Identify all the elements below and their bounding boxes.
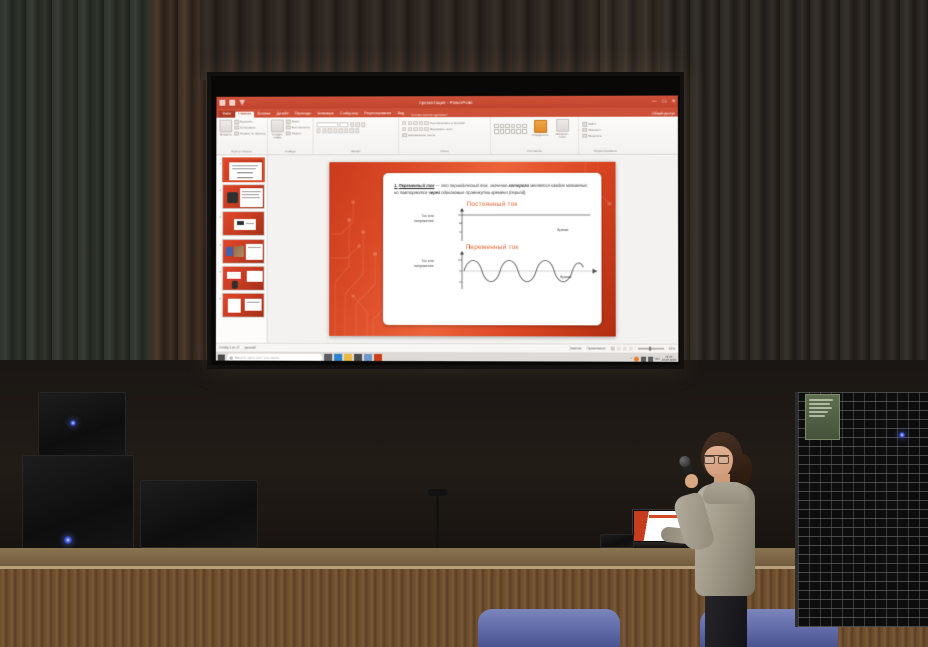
find-button[interactable]: Найти bbox=[582, 122, 628, 127]
slide-paragraph-number: 1. bbox=[394, 183, 397, 188]
volume-icon[interactable] bbox=[648, 356, 653, 361]
section-label: Раздел bbox=[292, 131, 301, 135]
thumbnail-number: 4 bbox=[217, 239, 221, 247]
shape-more-icon[interactable] bbox=[522, 129, 527, 134]
wall-notice-sign bbox=[805, 394, 840, 440]
thumbnail-preview[interactable] bbox=[222, 266, 265, 291]
slide-body-3-bold: через bbox=[429, 190, 441, 195]
ribbon-group-editing: Найти Заменить Выделить Редактирование bbox=[579, 117, 631, 154]
thumbnail-number: 6 bbox=[217, 293, 221, 301]
clipboard-group-label: Буфер обмена bbox=[219, 149, 264, 154]
powerpoint-body: 1 2 bbox=[216, 155, 678, 344]
shape-rectangle-icon[interactable] bbox=[494, 124, 499, 129]
format-painter-label: Формат по образцу bbox=[240, 132, 266, 136]
presenter-hand bbox=[685, 474, 698, 488]
section-button[interactable]: Раздел bbox=[286, 131, 310, 136]
paste-button[interactable]: Вставить bbox=[219, 120, 232, 137]
speaker-led-top bbox=[70, 420, 76, 426]
speaker-led-bottom bbox=[64, 536, 72, 544]
reset-button[interactable]: Восстановить bbox=[286, 125, 310, 130]
italic-button[interactable] bbox=[322, 129, 326, 133]
slide-body-3: одинаковые промежутки времени (период) bbox=[440, 190, 525, 195]
layout-icon bbox=[286, 119, 290, 123]
copy-button[interactable]: Копировать bbox=[234, 125, 266, 130]
format-painter-icon bbox=[234, 131, 238, 135]
thumbnail-preview[interactable] bbox=[222, 184, 265, 209]
thumbnail-item-5[interactable]: 5 bbox=[217, 266, 266, 291]
underline-button[interactable] bbox=[328, 129, 332, 133]
paragraph-group-label: Абзац bbox=[402, 149, 487, 154]
chart-ac-x-label: Время bbox=[560, 275, 571, 279]
arrange-icon bbox=[534, 120, 547, 133]
language-indicator[interactable]: русский bbox=[244, 346, 255, 350]
paste-label: Вставить bbox=[220, 134, 232, 137]
shape-banner-icon[interactable] bbox=[516, 129, 521, 134]
slide-body-2-bold: которого bbox=[509, 183, 529, 188]
numbering-button[interactable] bbox=[408, 121, 412, 125]
text-direction-icon bbox=[402, 133, 406, 137]
text-direction-label[interactable]: Направление текста bbox=[408, 133, 435, 137]
shadow-button[interactable] bbox=[333, 129, 337, 133]
shape-line-icon[interactable] bbox=[500, 124, 505, 129]
ribbon-group-paragraph: Преобразовать в SmartArt Выровнять текст bbox=[399, 117, 491, 154]
select-icon bbox=[582, 134, 587, 139]
thumbnail-number: 5 bbox=[217, 266, 221, 274]
edge-icon[interactable] bbox=[334, 354, 342, 362]
microphone-stand-clip bbox=[428, 489, 447, 496]
normal-view-button[interactable] bbox=[610, 347, 614, 351]
zoom-slider[interactable] bbox=[638, 348, 664, 349]
shape-circle-icon[interactable] bbox=[516, 124, 521, 129]
slideshow-view-button[interactable] bbox=[628, 347, 632, 351]
slide-definition-text: 1. Переменный ток — это периодический то… bbox=[394, 183, 590, 196]
presenter-hood bbox=[703, 482, 749, 504]
increase-indent-button[interactable] bbox=[419, 121, 423, 125]
cut-button[interactable]: Вырезать bbox=[234, 120, 266, 125]
chart-ac-y-label-line2: напряжение bbox=[414, 264, 434, 268]
ribbon-group-slides: Создать слайд Макет Восстановить bbox=[268, 117, 314, 154]
slide-body-1: — это периодический ток, значение bbox=[436, 183, 508, 188]
windows-taskbar[interactable]: Введите здесь текст для поиска ^ RU 14:3… bbox=[216, 352, 679, 362]
cut-icon bbox=[234, 120, 238, 124]
quick-styles-icon bbox=[556, 119, 569, 132]
slide-content-card: 1. Переменный ток — это периодический то… bbox=[383, 173, 602, 326]
arrange-button[interactable]: Упорядочить bbox=[530, 120, 550, 137]
thumbnail-number: 2 bbox=[217, 184, 221, 192]
reading-view-button[interactable] bbox=[622, 347, 626, 351]
chart-dc-x-label: Время bbox=[557, 228, 568, 232]
audience-seat-left bbox=[478, 609, 620, 647]
thumbnail-item-2[interactable]: 2 bbox=[217, 184, 266, 209]
antivirus-icon[interactable] bbox=[634, 356, 639, 361]
chart-dc: Ток или напряжение Врем bbox=[394, 208, 590, 242]
stage-floor-edge bbox=[0, 548, 928, 568]
quick-styles-label: Экспресс-стили bbox=[552, 133, 572, 139]
slide-counter: Слайд 1 из 12 bbox=[219, 346, 240, 350]
thumbnail-preview[interactable] bbox=[222, 157, 265, 182]
current-slide[interactable]: 1. Переменный ток — это периодический то… bbox=[329, 162, 616, 337]
chart-ac-y-label: Ток или напряжение bbox=[414, 259, 434, 268]
shape-star-icon[interactable] bbox=[511, 129, 516, 134]
copy-label: Копировать bbox=[240, 126, 255, 130]
ribbon-group-drawing: Упорядочить Экспресс-стили Рисование bbox=[491, 117, 579, 154]
shape-curve-icon[interactable] bbox=[494, 129, 499, 134]
line-spacing-button[interactable] bbox=[424, 121, 428, 125]
reset-icon bbox=[286, 125, 290, 129]
share-button[interactable]: Общий доступ bbox=[652, 112, 675, 116]
clear-formatting-button[interactable] bbox=[361, 123, 365, 127]
grille-indicator-led bbox=[899, 432, 905, 438]
chart-dc-y-label-line2: напряжение bbox=[414, 219, 434, 223]
chart-ac: Ток или напряжение bbox=[394, 251, 590, 291]
restore-icon[interactable]: ▭ bbox=[662, 99, 667, 104]
search-icon bbox=[582, 122, 587, 127]
chart-title-dc: Постоянный ток bbox=[394, 201, 590, 208]
change-case-button[interactable] bbox=[350, 129, 354, 133]
glasses-icon bbox=[704, 455, 729, 461]
layout-button[interactable]: Макет bbox=[286, 119, 310, 124]
select-button[interactable]: Выделить bbox=[582, 134, 628, 139]
quick-styles-button[interactable]: Экспресс-стили bbox=[552, 119, 572, 139]
format-painter-button[interactable]: Формат по образцу bbox=[234, 131, 266, 136]
copy-icon bbox=[234, 125, 238, 129]
layout-label: Макет bbox=[292, 120, 300, 124]
font-color-button[interactable] bbox=[355, 129, 359, 133]
decrease-indent-button[interactable] bbox=[413, 121, 417, 125]
strikethrough-button[interactable] bbox=[339, 129, 343, 133]
paste-icon bbox=[219, 120, 232, 133]
ribbon[interactable]: Вставить Вырезать Копировать bbox=[216, 117, 678, 156]
ribbon-group-font: Шрифт bbox=[314, 117, 400, 154]
slide-editing-area[interactable]: 1. Переменный ток — это периодический то… bbox=[267, 155, 678, 344]
shape-arrow-icon[interactable] bbox=[505, 124, 510, 129]
shape-triangle-icon[interactable] bbox=[522, 124, 527, 129]
shape-freeform-icon[interactable] bbox=[500, 129, 505, 134]
chart-dc-plot bbox=[452, 208, 616, 242]
bullets-button[interactable] bbox=[402, 121, 406, 125]
chrome-icon[interactable] bbox=[354, 354, 362, 362]
presenter-legs bbox=[705, 592, 747, 647]
font-size-combobox[interactable] bbox=[340, 122, 349, 127]
speaker-cabinet-bottom bbox=[22, 455, 134, 553]
language-icon[interactable]: RU bbox=[655, 357, 659, 361]
slides-group-label: Слайды bbox=[271, 149, 310, 154]
arrange-label: Упорядочить bbox=[532, 134, 549, 137]
columns-button[interactable] bbox=[424, 127, 428, 131]
view-buttons[interactable] bbox=[610, 347, 632, 351]
find-label: Найти bbox=[588, 122, 596, 126]
taskbar-search-placeholder: Введите здесь текст для поиска bbox=[235, 356, 279, 360]
notes-button[interactable]: Заметки bbox=[569, 346, 581, 350]
smartart-label[interactable]: Преобразовать в SmartArt bbox=[430, 121, 465, 125]
bold-button[interactable] bbox=[317, 129, 321, 133]
replace-icon bbox=[582, 128, 587, 133]
select-label: Выделить bbox=[588, 134, 601, 138]
thumbnail-item-6[interactable]: 6 bbox=[217, 293, 266, 318]
cut-label: Вырезать bbox=[240, 120, 253, 124]
taskbar-clock[interactable]: 14:37 23.05.2019 bbox=[662, 356, 677, 362]
windows-start-icon[interactable] bbox=[218, 354, 225, 361]
zoom-level[interactable]: 63% bbox=[669, 347, 675, 351]
chart-ac-plot bbox=[452, 251, 616, 291]
sorter-view-button[interactable] bbox=[616, 347, 620, 351]
shape-gallery[interactable] bbox=[494, 124, 528, 134]
window-controls[interactable]: — ▭ ✕ bbox=[652, 99, 676, 104]
shape-oval-icon[interactable] bbox=[511, 124, 516, 129]
increase-font-size-button[interactable] bbox=[350, 123, 354, 127]
stage-monitor-speaker bbox=[140, 480, 258, 548]
thumbnail-item-4[interactable]: 4 bbox=[217, 239, 266, 264]
new-slide-label: Создать слайд bbox=[271, 133, 284, 139]
presenter bbox=[673, 432, 769, 647]
ribbon-group-clipboard: Вставить Вырезать Копировать bbox=[216, 118, 268, 155]
slide-term: Переменный ток bbox=[399, 183, 435, 188]
thumbnail-number: 3 bbox=[217, 211, 221, 219]
align-left-button[interactable] bbox=[402, 127, 406, 131]
window-title: презентация - PowerPoint bbox=[216, 99, 677, 105]
align-right-button[interactable] bbox=[413, 127, 417, 131]
shape-callout-icon[interactable] bbox=[505, 129, 510, 134]
thumbnail-preview[interactable] bbox=[222, 211, 265, 236]
section-icon bbox=[286, 131, 290, 135]
thumbnail-number: 1 bbox=[217, 157, 221, 165]
new-slide-button[interactable]: Создать слайд bbox=[271, 119, 284, 139]
thumbnail-item-3[interactable]: 3 bbox=[217, 211, 266, 236]
font-group-label: Шрифт bbox=[316, 149, 395, 154]
speaker-cabinet-top bbox=[38, 392, 126, 458]
close-icon[interactable]: ✕ bbox=[672, 99, 676, 104]
stage-equipment-box bbox=[600, 534, 634, 548]
taskbar-search-box[interactable]: Введите здесь текст для поиска bbox=[227, 354, 322, 362]
network-icon[interactable] bbox=[641, 356, 646, 361]
replace-button[interactable]: Заменить bbox=[582, 128, 628, 133]
chart-dc-y-label: Ток или напряжение bbox=[414, 214, 434, 223]
auditorium-scene: презентация - PowerPoint — ▭ ✕ Файл Глав… bbox=[0, 0, 928, 647]
tray-expand-icon[interactable]: ^ bbox=[631, 357, 632, 361]
new-slide-icon bbox=[271, 119, 284, 132]
thumbnail-item-1[interactable]: 1 bbox=[217, 157, 266, 182]
clock-date: 23.05.2019 bbox=[662, 358, 677, 362]
powerpoint-icon[interactable] bbox=[374, 354, 382, 362]
reset-label: Восстановить bbox=[292, 126, 310, 130]
font-family-combobox[interactable] bbox=[317, 122, 339, 127]
replace-label: Заменить bbox=[588, 128, 601, 132]
search-icon bbox=[230, 356, 233, 359]
task-view-icon[interactable] bbox=[324, 354, 332, 362]
drawing-group-label: Рисование bbox=[494, 149, 575, 154]
align-text-label[interactable]: Выровнять текст bbox=[430, 127, 453, 131]
thumbnail-preview[interactable] bbox=[222, 239, 265, 264]
comments-button[interactable]: Примечания bbox=[587, 346, 606, 350]
editing-group-label: Редактирование bbox=[582, 149, 628, 154]
store-icon[interactable] bbox=[364, 354, 372, 362]
decrease-font-size-button[interactable] bbox=[356, 123, 360, 127]
character-spacing-button[interactable] bbox=[344, 129, 348, 133]
file-explorer-icon[interactable] bbox=[344, 354, 352, 362]
justify-button[interactable] bbox=[419, 127, 423, 131]
align-center-button[interactable] bbox=[408, 127, 412, 131]
powerpoint-window[interactable]: презентация - PowerPoint — ▭ ✕ Файл Глав… bbox=[216, 96, 679, 362]
minimize-icon[interactable]: — bbox=[652, 99, 657, 104]
slide-thumbnail-panel[interactable]: 1 2 bbox=[216, 155, 268, 342]
thumbnail-preview[interactable] bbox=[222, 293, 265, 318]
